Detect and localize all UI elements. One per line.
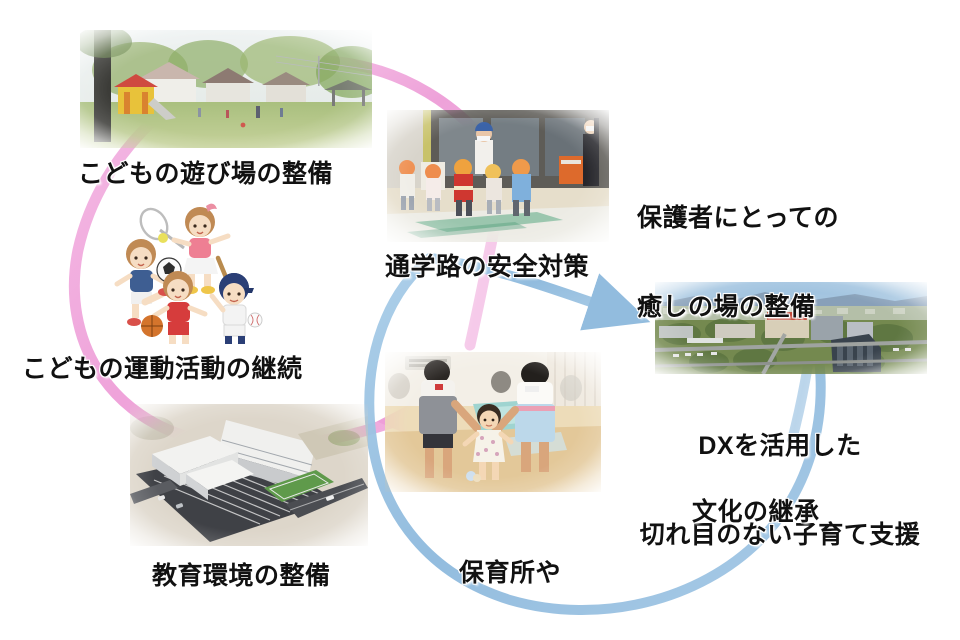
caption-dx-line1: DXを活用した: [630, 432, 930, 462]
school-aerial-photo: [130, 404, 368, 546]
children-sports-illustration: [108, 196, 266, 344]
caption-education: 教育環境の整備: [152, 562, 331, 592]
nursery-staff-child-photo: [385, 352, 601, 492]
caption-commute-safety: 通学路の安全対策: [385, 253, 589, 283]
caption-exercise: こどもの運動活動の継続: [22, 355, 303, 385]
diagram-canvas: こどもの遊び場の整備 通学路の安全対策 保護者にとっての 癒しの場の整備 こども…: [0, 0, 960, 640]
caption-caregiver-healing: 保護者にとっての 癒しの場の整備: [637, 145, 839, 381]
caption-playground: こどもの遊び場の整備: [78, 160, 333, 190]
children-crossing-guard-photo: [387, 110, 609, 242]
caption-culture: 文化の継承: [692, 498, 820, 528]
caption-caregiver-line1: 保護者にとっての: [637, 204, 839, 234]
caption-nursery-line1: 保育所や: [360, 559, 660, 589]
park-playground-photo: [80, 30, 372, 148]
caption-caregiver-line2: 癒しの場の整備: [637, 293, 839, 323]
caption-nursery-afterschool: 保育所や 放課後児童クラブの整備: [360, 500, 660, 640]
caption-dx-support: DXを活用した 切れ目のない子育て支援: [630, 373, 930, 609]
